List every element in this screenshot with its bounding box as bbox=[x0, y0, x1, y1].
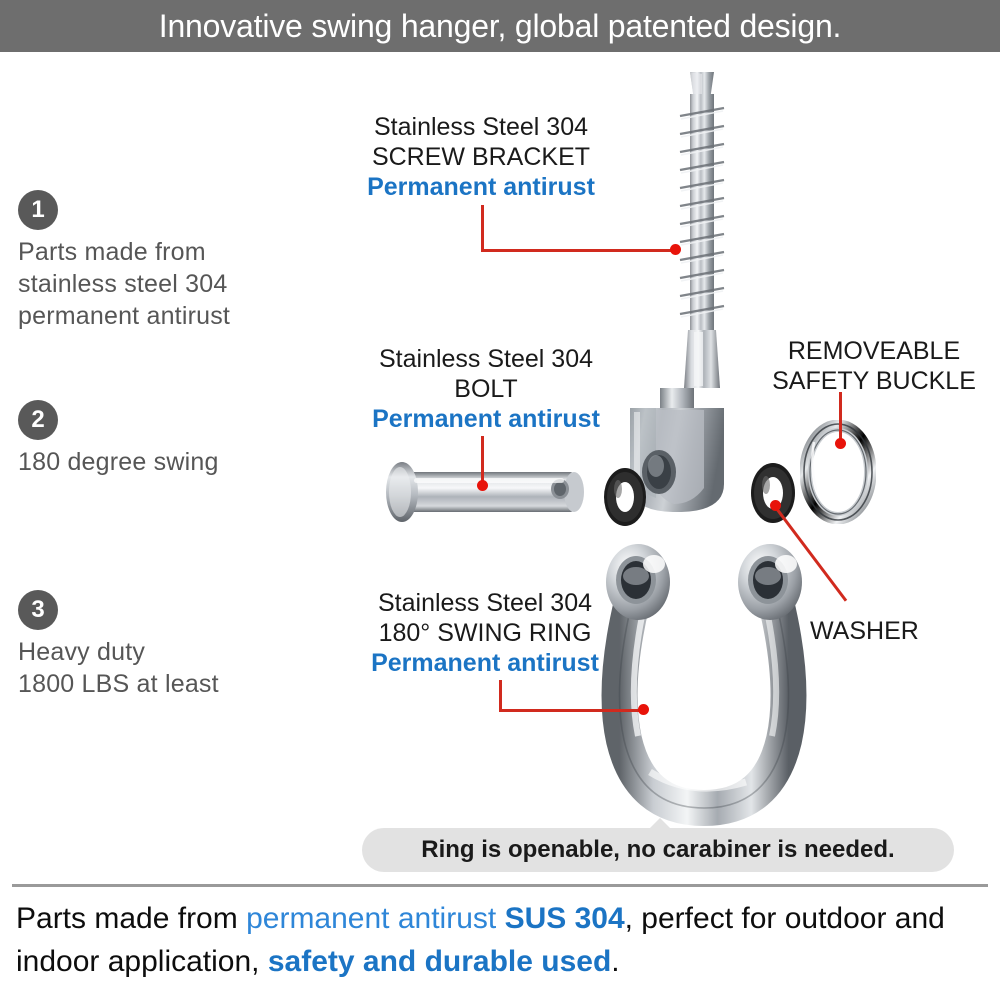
footer-divider bbox=[12, 884, 988, 887]
header-title: Innovative swing hanger, global patented… bbox=[159, 8, 841, 45]
footer-part1: Parts made from bbox=[16, 902, 246, 935]
callout-screw-line3: Permanent antirust bbox=[336, 172, 626, 202]
footer-part3: . bbox=[611, 945, 619, 978]
feature-text-2: 180 degree swing bbox=[18, 447, 318, 479]
leader-line-buckle-vertical bbox=[839, 392, 842, 444]
leader-line-screw-horizontal bbox=[481, 249, 677, 252]
washer-left-image bbox=[603, 467, 647, 527]
leader-line-ring-horizontal bbox=[499, 709, 645, 712]
bolt-pin-image bbox=[370, 460, 586, 526]
callout-swing-ring: Stainless Steel 304 180° SWING RING Perm… bbox=[340, 588, 630, 678]
callout-screw-line2: SCREW BRACKET bbox=[336, 142, 626, 172]
callout-bolt-line3: Permanent antirust bbox=[346, 404, 626, 434]
feature-item-1: 1 Parts made from stainless steel 304 pe… bbox=[18, 190, 318, 332]
feature-item-2: 2 180 degree swing bbox=[18, 400, 318, 479]
swing-ring-image bbox=[596, 536, 812, 826]
callout-ring-line2: 180° SWING RING bbox=[340, 618, 630, 648]
feature-badge-1: 1 bbox=[18, 190, 58, 230]
leader-line-bolt-vertical bbox=[481, 436, 484, 485]
leader-dot-buckle bbox=[835, 438, 846, 449]
feature-badge-2: 2 bbox=[18, 400, 58, 440]
feature-item-3: 3 Heavy duty 1800 LBS at least bbox=[18, 590, 318, 701]
callout-bolt-line2: BOLT bbox=[346, 374, 626, 404]
leader-dot-screw bbox=[670, 244, 681, 255]
ring-note-bubble: Ring is openable, no carabiner is needed… bbox=[362, 828, 954, 872]
screw-bracket-image bbox=[650, 72, 754, 422]
product-infographic: Innovative swing hanger, global patented… bbox=[0, 0, 1000, 986]
feature-text-3: Heavy duty 1800 LBS at least bbox=[18, 637, 318, 701]
leader-dot-bolt bbox=[477, 480, 488, 491]
callout-washer: WASHER bbox=[810, 616, 950, 646]
leader-dot-washer bbox=[770, 500, 781, 511]
washer-right-image bbox=[750, 462, 796, 524]
footer-blue1: permanent antirust bbox=[246, 902, 504, 935]
feature-badge-3: 3 bbox=[18, 590, 58, 630]
safety-buckle-image bbox=[800, 420, 876, 524]
leader-line-ring-vertical bbox=[499, 680, 502, 712]
footer-blue-bold2: safety and durable used bbox=[268, 945, 611, 978]
footer-blue-bold1: SUS 304 bbox=[505, 902, 625, 935]
callout-ring-line3: Permanent antirust bbox=[340, 648, 630, 678]
header-banner: Innovative swing hanger, global patented… bbox=[0, 0, 1000, 52]
callout-washer-line1: WASHER bbox=[810, 616, 950, 646]
callout-screw-bracket: Stainless Steel 304 SCREW BRACKET Perman… bbox=[336, 112, 626, 202]
callout-bolt: Stainless Steel 304 BOLT Permanent antir… bbox=[346, 344, 626, 434]
callout-bolt-line1: Stainless Steel 304 bbox=[346, 344, 626, 374]
footer-text: Parts made from permanent antirust SUS 3… bbox=[16, 898, 991, 983]
callout-ring-line1: Stainless Steel 304 bbox=[340, 588, 630, 618]
callout-buckle-line1: REMOVEABLE bbox=[760, 336, 988, 366]
callout-buckle-line2: SAFETY BUCKLE bbox=[760, 366, 988, 396]
ring-note-text: Ring is openable, no carabiner is needed… bbox=[421, 836, 894, 864]
feature-text-1: Parts made from stainless steel 304 perm… bbox=[18, 237, 318, 332]
leader-dot-ring bbox=[638, 704, 649, 715]
callout-safety-buckle: REMOVEABLE SAFETY BUCKLE bbox=[760, 336, 988, 396]
leader-line-screw-vertical bbox=[481, 205, 484, 252]
callout-screw-line1: Stainless Steel 304 bbox=[336, 112, 626, 142]
